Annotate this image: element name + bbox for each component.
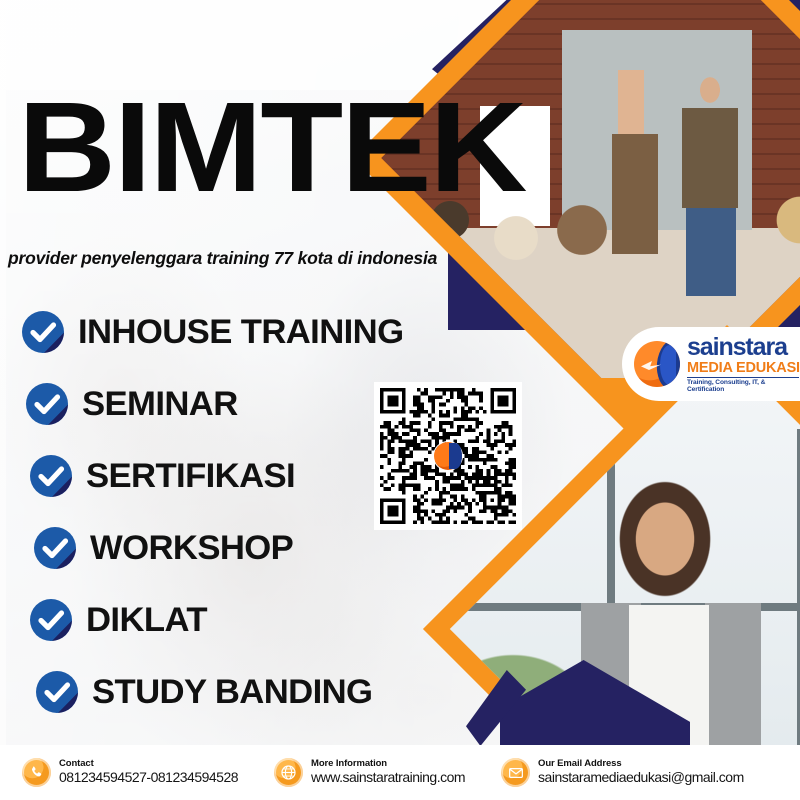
list-item-label: SEMINAR [82,385,238,424]
list-item: STUDY BANDING [22,656,492,728]
check-circle-icon [30,455,72,497]
page-title: BIMTEK [18,92,525,205]
list-item: DIKLAT [22,584,492,656]
contact-website-block: More Information www.sainstaratraining.c… [274,758,465,787]
check-circle-icon [30,599,72,641]
list-item-label: SERTIFIKASI [86,457,295,496]
list-item-label: WORKSHOP [90,529,293,568]
list-item-label: INHOUSE TRAINING [78,313,403,352]
brand-name: sainstara [687,335,800,360]
brand-tagline: Training, Consulting, IT, & Certificatio… [687,377,799,393]
qr-code-icon[interactable] [374,382,522,530]
sainstara-mark-icon [434,442,462,470]
brand-logo-badge: sainstara MEDIA EDUKASI Training, Consul… [622,327,800,401]
globe-icon [274,758,303,787]
page-subtitle: provider penyelenggara training 77 kota … [8,248,437,269]
envelope-icon [501,758,530,787]
contact-phone-block: Contact 081234594527-081234594528 [22,758,238,787]
contact-value[interactable]: 081234594527-081234594528 [59,770,238,786]
sainstara-flame-icon [634,341,680,387]
website-value[interactable]: www.sainstaratraining.com [311,770,465,786]
phone-icon [22,758,51,787]
check-circle-icon [34,527,76,569]
email-value[interactable]: sainstaramediaedukasi@gmail.com [538,770,744,786]
list-item: INHOUSE TRAINING [22,296,492,368]
list-item-label: STUDY BANDING [92,673,372,712]
check-circle-icon [36,671,78,713]
poster-canvas: BIMTEK provider penyelenggara training 7… [0,0,800,800]
contact-email-block: Our Email Address sainstaramediaedukasi@… [501,758,744,787]
check-circle-icon [22,311,64,353]
list-item-label: DIKLAT [86,601,207,640]
footer-bar: Contact 081234594527-081234594528 More I… [0,745,800,800]
check-circle-icon [26,383,68,425]
brand-subname: MEDIA EDUKASI [687,361,800,376]
